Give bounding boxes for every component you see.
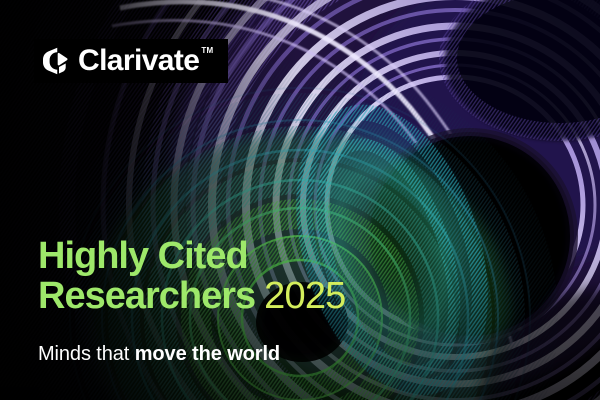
headline-line-1: Highly Cited — [38, 236, 346, 276]
headline-year: 2025 — [264, 275, 345, 317]
trademark-symbol: TM — [201, 47, 213, 55]
clarivate-logo-mark — [42, 47, 68, 75]
clarivate-logo[interactable]: Clarivate TM — [34, 39, 228, 83]
headline-text-researchers: Researchers — [38, 275, 255, 317]
clarivate-wordmark: Clarivate — [78, 46, 199, 76]
clarivate-wordmark-wrap: Clarivate TM — [78, 46, 214, 76]
tagline-light-part: Minds that — [38, 343, 129, 365]
headline-text-highly-cited: Highly Cited — [38, 235, 248, 277]
highly-cited-researchers-banner: Clarivate TM Highly Cited Researchers202… — [0, 0, 600, 400]
tagline: Minds that move the world — [38, 343, 280, 366]
headline-line-2: Researchers2025 — [38, 276, 346, 316]
page-title: Highly Cited Researchers2025 — [38, 236, 346, 317]
tagline-bold-text: move the world — [135, 343, 280, 365]
